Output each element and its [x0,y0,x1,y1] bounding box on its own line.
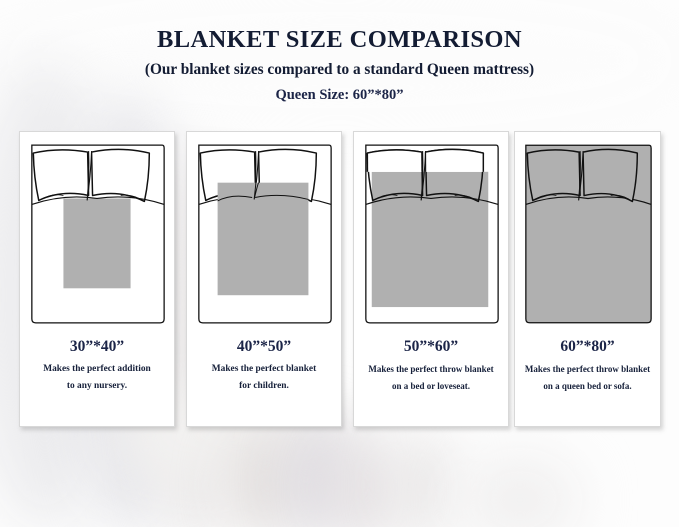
bed-illustration-40x50 [187,132,341,337]
size-description: Makes the perfect blanket for children. [187,361,341,396]
blanket-rect [63,198,130,288]
size-card-50x60[interactable]: 50”*60” Makes the perfect throw blanket … [353,131,509,427]
desc-line-2: on a queen bed or sofa. [520,378,655,395]
blanket-rect [218,183,309,296]
size-description: Makes the perfect throw blanket on a que… [515,361,660,394]
size-card-30x40[interactable]: 30”*40” Makes the perfect addition to an… [19,131,175,427]
desc-line-1: Makes the perfect throw blanket [520,361,655,378]
queen-size-note: Queen Size: 60”*80” [0,88,679,104]
page-subtitle: (Our blanket sizes compared to a standar… [0,62,679,79]
bed-illustration-50x60 [354,132,508,337]
page-title: BLANKET SIZE COMPARISON [0,27,679,54]
size-label: 50”*60” [354,338,508,355]
header-block: BLANKET SIZE COMPARISON (Our blanket siz… [0,0,679,104]
size-label: 30”*40” [20,338,174,355]
desc-line-2: for children. [192,378,336,395]
desc-line-1: Makes the perfect throw blanket [359,361,503,378]
desc-line-1: Makes the perfect addition [25,361,169,378]
desc-line-2: on a bed or loveseat. [359,378,503,395]
desc-line-2: to any nursery. [25,378,169,395]
size-card-40x50[interactable]: 40”*50” Makes the perfect blanket for ch… [186,131,342,427]
blanket-rect [372,172,488,307]
size-description: Makes the perfect addition to any nurser… [20,361,174,396]
size-card-60x80[interactable]: 60”*80” Makes the perfect throw blanket … [514,131,661,427]
bed-illustration-60x80 [515,132,660,337]
infographic: BLANKET SIZE COMPARISON (Our blanket siz… [0,0,679,527]
desc-line-1: Makes the perfect blanket [192,361,336,378]
size-label: 40”*50” [187,338,341,355]
bed-illustration-30x40 [20,132,174,337]
comparison-cards: 30”*40” Makes the perfect addition to an… [0,131,679,431]
size-label: 60”*80” [515,338,660,355]
size-description: Makes the perfect throw blanket on a bed… [354,361,508,394]
